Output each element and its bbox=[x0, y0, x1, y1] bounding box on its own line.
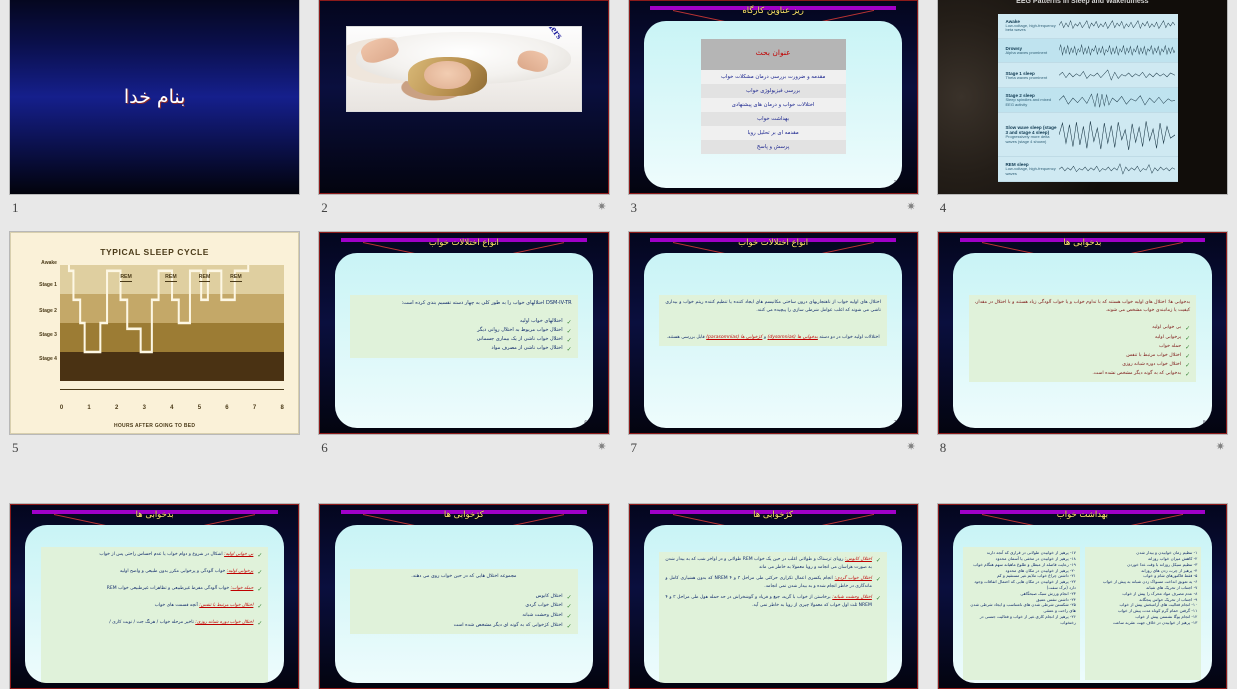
table-row: مقدمه و ضرورت بررسی درمان مشکلات خواب bbox=[701, 70, 846, 84]
transition-star-icon-3[interactable]: ✷ bbox=[907, 202, 916, 213]
slide-7-header: انواع اختلالات خواب bbox=[634, 237, 913, 254]
slide-3-panel: عنوان بحث مقدمه و ضرورت بررسی درمان مشکل… bbox=[644, 21, 903, 188]
slide-11-header-text: کژخوابی ها bbox=[634, 510, 913, 520]
axis-label-stage4: Stage 4 bbox=[17, 357, 57, 362]
slide-6-header: انواع اختلالات خواب bbox=[324, 237, 603, 254]
slide-number-3: 3 bbox=[631, 200, 638, 216]
topics-table: عنوان بحث مقدمه و ضرورت بررسی درمان مشکل… bbox=[701, 39, 846, 154]
slide-number-1: 1 bbox=[12, 200, 19, 216]
def-text: خواب آلودگی مفرط غیرطبیعی و تظاهرات غیرط… bbox=[107, 586, 231, 591]
x-tick: 8 bbox=[280, 405, 283, 411]
def-text: آنچه قسمت های خواب bbox=[155, 603, 200, 608]
eeg-row-label: Awake Low-voltage, high-frequency beta w… bbox=[1001, 19, 1058, 33]
eeg-stage-desc: Sleep spindles and mixed EEG activity bbox=[1005, 98, 1058, 107]
list-item: اختلال خواب مرتبط با تنفس: آنچه قسمت های… bbox=[47, 602, 263, 610]
rem-label: REM bbox=[165, 274, 177, 280]
table-row: بررسی فیزیولوژی خواب bbox=[701, 84, 846, 98]
list-item: اختلال خواب مرتبط با تنفس bbox=[975, 351, 1191, 360]
def-text: رویای ترسناک و طولانی اغلب در حین یک خوا… bbox=[665, 557, 872, 570]
eeg-stage-desc: Low-voltage, high-frequency waves bbox=[1005, 167, 1058, 176]
para2-after: قابل بررسی هستند. bbox=[667, 335, 707, 340]
transition-star-icon-6[interactable]: ✷ bbox=[597, 442, 606, 453]
eeg-row: REM sleep Low-voltage, high-frequency wa… bbox=[998, 157, 1177, 182]
eeg-row-label: Stage 2 sleep Sleep spindles and mixed E… bbox=[1001, 93, 1058, 107]
slide-6-header-text: انواع اختلالات خواب bbox=[324, 238, 603, 248]
list-item: اختلال خواب مربوط به اختلال روانی دیگر bbox=[356, 326, 572, 335]
slide-thumbnail-10[interactable]: کژخوابی ها مجموعه اختلال هایی که در حین … bbox=[319, 504, 608, 689]
eeg-stage-desc: Alpha waves prominent bbox=[1005, 51, 1058, 55]
slide-6-intro: DSM-IV-TR اختلالهای خواب را به طور کلی ب… bbox=[356, 299, 572, 308]
hypnogram-title: TYPICAL SLEEP CYCLE bbox=[11, 247, 298, 257]
slide-7-panel: اختلال های اولیه خواب از ناهنجاریهای درو… bbox=[644, 253, 903, 428]
slide-number-8: 8 bbox=[940, 440, 947, 456]
eeg-row: Awake Low-voltage, high-frequency beta w… bbox=[998, 14, 1177, 39]
face-shape bbox=[424, 61, 471, 90]
slide-9-header: بدخوابی ها bbox=[15, 509, 294, 526]
table-row: بهداشت خواب bbox=[701, 112, 846, 126]
slide-meta-6: 6 ✷ bbox=[319, 434, 608, 458]
slide-cell-1[interactable]: بنام خدا 1 ✷ bbox=[0, 0, 309, 232]
eeg-row: Stage 2 sleep Sleep spindles and mixed E… bbox=[998, 88, 1177, 113]
hypnogram-trace bbox=[60, 265, 284, 381]
slide-number-4: 4 bbox=[940, 200, 947, 216]
term-parasomnias: کژخوابی ها (parasomnias) bbox=[706, 335, 762, 340]
def-term: پرخوابی اولیه: bbox=[227, 569, 254, 574]
x-tick: 7 bbox=[253, 405, 256, 411]
list-item: ۲۶- پرهیز از انجام کاری غیر از خواب و فع… bbox=[967, 614, 1075, 626]
slide-9-header-text: بدخوابی ها bbox=[15, 510, 294, 520]
transition-star-icon-8[interactable]: ✷ bbox=[1216, 442, 1225, 453]
def-text: خواب آلودگی و پرخوابی مکرر بدون طبیعی و … bbox=[120, 569, 227, 574]
eeg-stage-desc: Low-voltage, high-frequency beta waves bbox=[1005, 24, 1058, 33]
table-row: پرسش و پاسخ bbox=[701, 140, 846, 154]
slide-7-header-text: انواع اختلالات خواب bbox=[634, 238, 913, 248]
slide-thumbnail-7[interactable]: انواع اختلالات خواب اختلال های اولیه خوا… bbox=[629, 232, 918, 434]
list-item: اختلالهای خواب اولیه bbox=[356, 317, 572, 326]
slide-12-panel: ۱- تنظیم زمان خوابیدن و بیدار شدن ۲- کاه… bbox=[953, 525, 1212, 683]
slide-10-header: کژخوابی ها bbox=[324, 509, 603, 526]
slide-cell-10[interactable]: کژخوابی ها مجموعه اختلال هایی که در حین … bbox=[309, 504, 618, 689]
slide-cell-2[interactable]: اختلالات خواب Sleep Disorders 2 ✷ bbox=[309, 0, 618, 232]
slide-6-panel: DSM-IV-TR اختلالهای خواب را به طور کلی ب… bbox=[335, 253, 594, 428]
axis-label-stage1: Stage 1 bbox=[17, 283, 57, 288]
slide-12-header: بهداشت خواب bbox=[943, 509, 1222, 526]
hypnogram-chart: TYPICAL SLEEP CYCLE Awake Stage 1 Stage … bbox=[11, 233, 298, 433]
slide-thumbnail-5[interactable]: TYPICAL SLEEP CYCLE Awake Stage 1 Stage … bbox=[10, 232, 299, 434]
x-tick: 5 bbox=[198, 405, 201, 411]
x-tick: 2 bbox=[115, 405, 118, 411]
eeg-row-label: Slow wave sleep (stage 3 and stage 4 sle… bbox=[1001, 125, 1058, 144]
list-item: اختلال کابوس: رویای ترسناک و طولانی اغلب… bbox=[665, 556, 881, 571]
slide-number-2: 2 bbox=[321, 200, 328, 216]
axis-label-awake: Awake bbox=[17, 261, 57, 266]
list-item: بی خوابی اولیه: اشکال در شروع و دوام خوا… bbox=[47, 551, 263, 559]
list-item: اختلال خواب ناشی از یک بیماری جسمانی bbox=[356, 335, 572, 344]
slide-7-page-number: 7 bbox=[894, 420, 897, 426]
def-term: اختلال خواب دوره شبانه روزی: bbox=[195, 620, 253, 625]
eeg-stage-desc: Theta waves prominent bbox=[1005, 76, 1058, 80]
def-term: اختلال وحشت شبانه: bbox=[832, 595, 872, 600]
def-term: اختلال خواب گردی: bbox=[835, 576, 872, 581]
slide-8-page-number: 8 bbox=[1203, 420, 1206, 426]
eeg-chart: Awake Low-voltage, high-frequency beta w… bbox=[998, 14, 1177, 183]
list-item: اختلال کابوس bbox=[356, 592, 572, 602]
sleep-photo: اختلالات خواب Sleep Disorders bbox=[346, 26, 582, 112]
list-item: پرخوابی اولیه: خواب آلودگی و پرخوابی مکر… bbox=[47, 568, 263, 576]
eeg-row-label: Stage 1 sleep Theta waves prominent bbox=[1001, 71, 1058, 80]
slide-7-paragraph-2: اختلالات اولیه خواب در دو دسته بدخوابی ه… bbox=[665, 334, 881, 342]
slide-number-5: 5 bbox=[12, 440, 19, 456]
x-tick: 1 bbox=[87, 405, 90, 411]
list-item: حمله خواب bbox=[975, 342, 1191, 351]
list-item: بی خوابی اولیه bbox=[975, 323, 1191, 332]
slide-thumbnail-6[interactable]: انواع اختلالات خواب DSM-IV-TR اختلالهای … bbox=[319, 232, 608, 434]
transition-star-icon-2[interactable]: ✷ bbox=[597, 202, 606, 213]
slide-7-paragraph-1: اختلال های اولیه خواب از ناهنجاریهای درو… bbox=[665, 299, 881, 316]
list-item: اختلال خواب دوره شبانه روزی: تاخیر مرحله… bbox=[47, 619, 263, 627]
def-text: تاخیر مرحله خواب / هرنگ جت / نوبت کاری / bbox=[109, 620, 195, 625]
list-item: اختلال کژخوابی که به گونه ای دیگر مشخص ش… bbox=[356, 621, 572, 631]
slide-meta-1: 1 ✷ bbox=[10, 194, 299, 218]
x-tick: 0 bbox=[60, 405, 63, 411]
slide-thumbnail-3[interactable]: ریز عناوین کارگاه عنوان بحث مقدمه و ضرور… bbox=[629, 0, 918, 194]
eeg-waveform bbox=[1059, 160, 1175, 179]
list-item: ۲۲- پرهیز از خوابیدن در مکان هایی که احت… bbox=[967, 579, 1075, 591]
slide-8-intro: بدخوابی ها: اختلال های اولیه خواب هستند … bbox=[975, 299, 1191, 315]
slide-3-page-number: 3 bbox=[894, 180, 897, 186]
slide-8-header: بدخوابی ها bbox=[943, 237, 1222, 254]
slide-cell-3[interactable]: ریز عناوین کارگاه عنوان بحث مقدمه و ضرور… bbox=[619, 0, 928, 232]
hygiene-column-left: ۱۷- پرهیز از خوابیدن طولانی در قراری که … bbox=[963, 547, 1079, 680]
eeg-row-label: REM sleep Low-voltage, high-frequency wa… bbox=[1001, 162, 1058, 176]
slide-thumbnail-8[interactable]: بدخوابی ها بدخوابی ها: اختلال های اولیه … bbox=[938, 232, 1227, 434]
list-item: اختلال خواب ناشی از مصرف مواد bbox=[356, 344, 572, 353]
list-item: ۲۵- شکستن شرطی شدن های نامتناسب و ایجاد … bbox=[967, 602, 1075, 614]
list-item: اختلال خواب دوره شبانه روزی bbox=[975, 360, 1191, 369]
eeg-row: Slow wave sleep (stage 3 and stage 4 sle… bbox=[998, 113, 1177, 157]
slide-meta-2: 2 ✷ bbox=[319, 194, 608, 218]
x-axis bbox=[60, 389, 284, 393]
slide-thumbnail-11[interactable]: کژخوابی ها اختلال کابوس: رویای ترسناک و … bbox=[629, 504, 918, 689]
slide-10-panel: مجموعه اختلال هایی که در حین خواب روی می… bbox=[335, 525, 594, 683]
slide-meta-3: 3 ✷ bbox=[629, 194, 918, 218]
slide-3-header-text: ریز عناوین کارگاه bbox=[634, 6, 913, 16]
hypnogram-plot: REM REM REM REM bbox=[60, 265, 284, 381]
eeg-stage-desc: Progressively more delta waves (stage 4 … bbox=[1005, 135, 1058, 144]
slide-1-title-text: بنام خدا bbox=[124, 86, 186, 108]
slide-cell-4[interactable]: EEG Patterns in Sleep and Wakefulness Aw… bbox=[928, 0, 1237, 232]
rem-label: REM bbox=[120, 274, 132, 280]
slide-cell-9[interactable]: بدخوابی ها بی خوابی اولیه: اشکال در شروع… bbox=[0, 504, 309, 689]
x-tick: 3 bbox=[143, 405, 146, 411]
slide-number-6: 6 bbox=[321, 440, 328, 456]
slide-meta-4: 4 ✷ bbox=[938, 194, 1227, 218]
list-item: حمله خواب: خواب آلودگی مفرط غیرطبیعی و ت… bbox=[47, 585, 263, 593]
axis-label-stage2: Stage 2 bbox=[17, 309, 57, 314]
slide-8-header-text: بدخوابی ها bbox=[943, 238, 1222, 248]
list-item: ۱۹- رعایت فاصله از مبطل و طلوع ماهیانه س… bbox=[967, 562, 1075, 568]
def-term: بی خوابی اولیه: bbox=[224, 552, 253, 557]
def-text: اشکال در شروع و دوام خواب یا عدم احساس ر… bbox=[99, 552, 224, 557]
list-item: اختلال خواب گردی bbox=[356, 601, 572, 611]
slide-4-header-text: EEG Patterns in Sleep and Wakefulness bbox=[938, 0, 1227, 6]
slide-thumbnail-2[interactable]: اختلالات خواب Sleep Disorders bbox=[319, 0, 608, 194]
slide-8-panel: بدخوابی ها: اختلال های اولیه خواب هستند … bbox=[953, 253, 1212, 428]
transition-star-icon-7[interactable]: ✷ bbox=[907, 442, 916, 453]
term-dysomnias: بدخوابی ها (dysomnias) bbox=[768, 335, 818, 340]
list-item: اختلال وحشت شبانه bbox=[356, 611, 572, 621]
table-row: اختلالات خواب و درمان های پیشنهادی bbox=[701, 98, 846, 112]
slide-cell-5[interactable]: TYPICAL SLEEP CYCLE Awake Stage 1 Stage … bbox=[0, 232, 309, 504]
slide-thumbnail-1[interactable]: بنام خدا bbox=[10, 0, 299, 194]
def-term: اختلال خواب مرتبط با تنفس: bbox=[199, 603, 253, 608]
hypnogram-xlabel: HOURS AFTER GOING TO BED bbox=[11, 423, 298, 429]
x-tick: 6 bbox=[225, 405, 228, 411]
slide-10-header-text: کژخوابی ها bbox=[324, 510, 603, 520]
slide-cell-8[interactable]: بدخوابی ها بدخوابی ها: اختلال های اولیه … bbox=[928, 232, 1237, 504]
list-item: بدخوابی که به گونه دیگر مشخص نشده است. bbox=[975, 369, 1191, 378]
table-row: مقدمه ای بر تحلیل رویا bbox=[701, 126, 846, 140]
eeg-row: Stage 1 sleep Theta waves prominent bbox=[998, 63, 1177, 88]
slide-cell-7[interactable]: انواع اختلالات خواب اختلال های اولیه خوا… bbox=[619, 232, 928, 504]
topics-table-header: عنوان بحث bbox=[701, 39, 846, 70]
slide-cell-6[interactable]: انواع اختلالات خواب DSM-IV-TR اختلالهای … bbox=[309, 232, 618, 504]
eeg-waveform bbox=[1059, 91, 1175, 110]
x-tick-labels: 0 1 2 3 4 5 6 7 8 bbox=[60, 405, 284, 411]
axis-label-stage3: Stage 3 bbox=[17, 333, 57, 338]
slide-thumbnail-12[interactable]: بهداشت خواب ۱- تنظیم زمان خوابیدن و بیدا… bbox=[938, 504, 1227, 689]
slide-3-header: ریز عناوین کارگاه bbox=[634, 5, 913, 22]
eeg-waveform bbox=[1059, 41, 1175, 60]
slide-meta-8: 8 ✷ bbox=[938, 434, 1227, 458]
def-term: حمله خواب: bbox=[231, 586, 254, 591]
slide-thumbnail-4[interactable]: EEG Patterns in Sleep and Wakefulness Aw… bbox=[938, 0, 1227, 194]
slide-cell-12[interactable]: بهداشت خواب ۱- تنظیم زمان خوابیدن و بیدا… bbox=[928, 504, 1237, 689]
slide-meta-7: 7 ✷ bbox=[629, 434, 918, 458]
slide-9-panel: بی خوابی اولیه: اشکال در شروع و دوام خوا… bbox=[25, 525, 284, 683]
hygiene-column-right: ۱- تنظیم زمان خوابیدن و بیدار شدن ۲- کاه… bbox=[1085, 547, 1201, 680]
slide-sorter-grid: بنام خدا 1 ✷ اختلالات خواب Sleep Diso bbox=[0, 0, 1237, 689]
para2-before: اختلالات اولیه خواب در دو دسته bbox=[818, 335, 880, 340]
slide-thumbnail-9[interactable]: بدخوابی ها بی خوابی اولیه: اشکال در شروع… bbox=[10, 504, 299, 689]
list-item: اختلال خواب گردی: انجام یکسری اعمال تکرا… bbox=[665, 575, 881, 590]
rem-label: REM bbox=[199, 274, 211, 280]
slide-11-header: کژخوابی ها bbox=[634, 509, 913, 526]
list-item: پرخوابی اولیه bbox=[975, 333, 1191, 342]
eeg-row-label: Drowsy Alpha waves prominent bbox=[1001, 46, 1058, 55]
eeg-waveform bbox=[1059, 118, 1175, 152]
slide-6-page-number: 6 bbox=[584, 420, 587, 426]
list-item: اختلال وحشت شبانه: برخاستن از خواب با گر… bbox=[665, 594, 881, 609]
sleep-hygiene-columns: ۱- تنظیم زمان خوابیدن و بیدار شدن ۲- کاه… bbox=[963, 547, 1201, 680]
eeg-waveform bbox=[1059, 66, 1175, 85]
eeg-waveform bbox=[1059, 16, 1175, 35]
list-item: ۱۳- پرهیز از خوابیدن در خلاف جهت عقربه س… bbox=[1089, 620, 1197, 626]
rem-label: REM bbox=[230, 274, 242, 280]
slide-cell-11[interactable]: کژخوابی ها اختلال کابوس: رویای ترسناک و … bbox=[619, 504, 928, 689]
x-tick: 4 bbox=[170, 405, 173, 411]
slide-10-intro: مجموعه اختلال هایی که در حین خواب روی می… bbox=[356, 573, 572, 582]
slide-number-7: 7 bbox=[631, 440, 638, 456]
eeg-row: Drowsy Alpha waves prominent bbox=[998, 39, 1177, 64]
slide-12-header-text: بهداشت خواب bbox=[943, 510, 1222, 520]
slide-meta-5: 5 ✷ bbox=[10, 434, 299, 458]
def-term: اختلال کابوس: bbox=[845, 557, 872, 562]
slide-11-panel: اختلال کابوس: رویای ترسناک و طولانی اغلب… bbox=[644, 525, 903, 683]
